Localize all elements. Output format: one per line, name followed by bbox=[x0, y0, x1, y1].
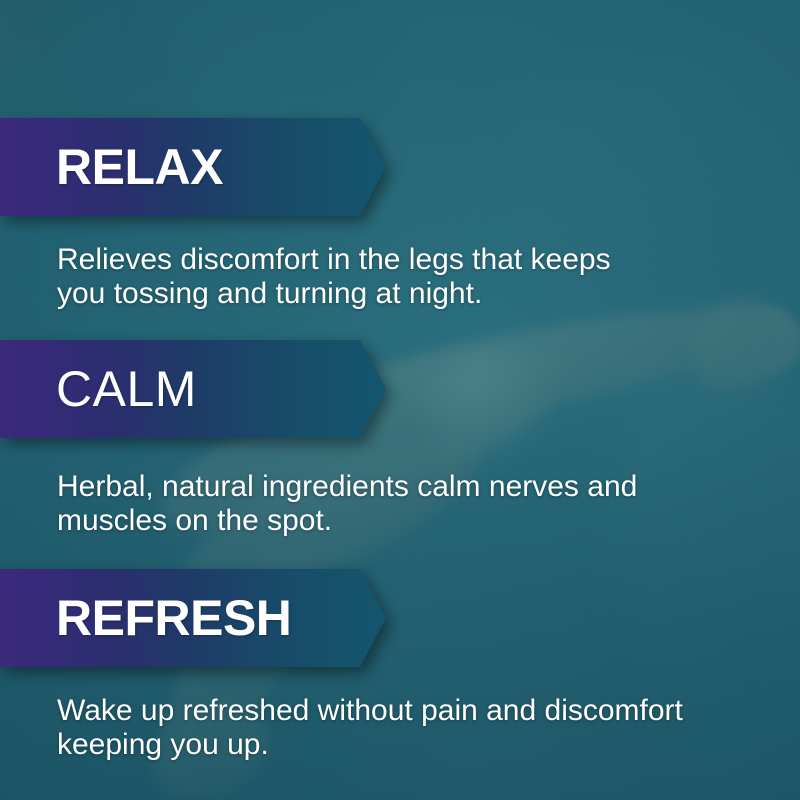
benefit-title-refresh: REFRESH bbox=[56, 589, 291, 647]
benefit-banner-relax: RELAX bbox=[0, 118, 386, 216]
benefit-title-relax: RELAX bbox=[56, 138, 223, 196]
benefit-body-calm: Herbal, natural ingredients calm nerves … bbox=[57, 470, 757, 538]
benefit-body-line: keeping you up. bbox=[57, 728, 757, 762]
benefit-body-line: you tossing and turning at night. bbox=[57, 277, 757, 311]
benefit-banner-refresh: REFRESH bbox=[0, 569, 386, 667]
benefit-body-line: Herbal, natural ingredients calm nerves … bbox=[57, 470, 757, 504]
benefit-banner-calm: CALM bbox=[0, 340, 386, 438]
benefit-body-relax: Relieves discomfort in the legs that kee… bbox=[57, 243, 757, 311]
benefit-body-line: muscles on the spot. bbox=[57, 504, 757, 538]
benefit-title-calm: CALM bbox=[56, 360, 197, 418]
benefit-body-line: Wake up refreshed without pain and disco… bbox=[57, 694, 757, 728]
promo-graphic: RELAX Relieves discomfort in the legs th… bbox=[0, 0, 800, 800]
benefit-body-line: Relieves discomfort in the legs that kee… bbox=[57, 243, 757, 277]
benefit-body-refresh: Wake up refreshed without pain and disco… bbox=[57, 694, 757, 762]
